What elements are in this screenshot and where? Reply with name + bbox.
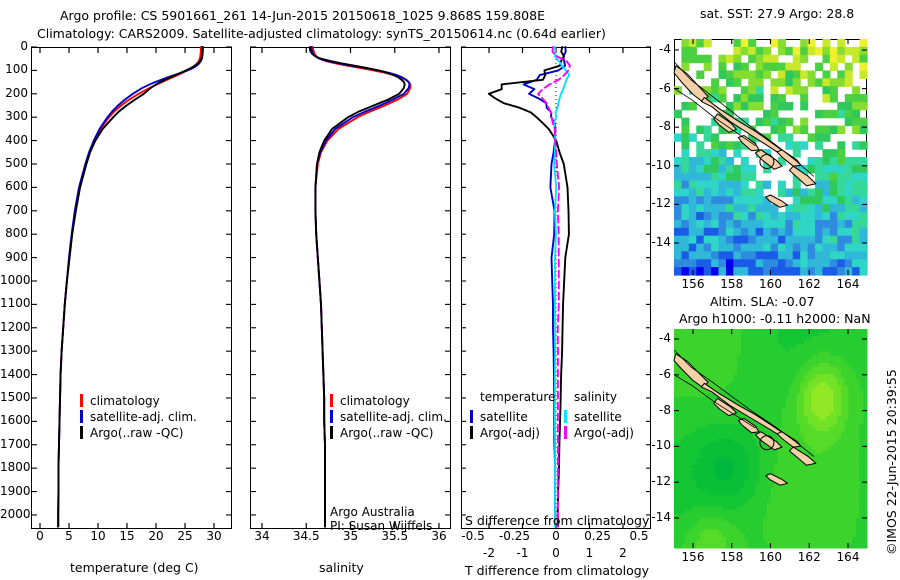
axis-tick-label: 30 <box>206 529 221 543</box>
map-tick-label: 156 <box>682 550 705 564</box>
temperature-axis-label: temperature (deg C) <box>70 560 199 575</box>
axis-tick-label: -0.25 <box>499 529 530 543</box>
sla-map-subtitle: Argo h1000: -0.11 h2000: NaN <box>679 311 871 326</box>
depth-tick-label: 1900 <box>0 484 28 498</box>
map-tick-label: -4 <box>645 331 671 345</box>
depth-tick-label: 1400 <box>0 367 28 381</box>
sst-map-title: sat. SST: 27.9 Argo: 28.8 <box>700 6 854 21</box>
axis-tick-label: 0.5 <box>629 529 648 543</box>
depth-tick-label: 1800 <box>0 460 28 474</box>
imos-credit: ©IMOS 22-Jun-2015 20:39:55 <box>884 369 899 555</box>
map-tick-label: -14 <box>645 235 671 249</box>
axis-tick-label: 2 <box>619 546 627 560</box>
axis-tick-label: 1 <box>586 546 594 560</box>
map-tick-label: 156 <box>682 277 705 291</box>
map-tick-label: 160 <box>759 550 782 564</box>
map-tick-label: 164 <box>837 550 860 564</box>
map-tick-label: 162 <box>798 277 821 291</box>
map-tick-label: 158 <box>720 277 743 291</box>
depth-tick-label: 700 <box>0 203 28 217</box>
depth-tick-label: 500 <box>0 156 28 170</box>
map-tick-label: -8 <box>645 119 671 133</box>
depth-tick-label: 1200 <box>0 320 28 334</box>
legend-item: Argo(-adj) <box>564 422 634 441</box>
salinity-plot <box>250 47 451 529</box>
axis-tick-label: -0.5 <box>461 529 484 543</box>
depth-tick-label: 0 <box>0 39 28 53</box>
depth-tick-label: 1500 <box>0 390 28 404</box>
legend-group-header: temperature <box>480 390 555 404</box>
legend-color-swatch <box>564 426 567 439</box>
map-tick-label: -12 <box>645 196 671 210</box>
legend-item: Argo(-adj) <box>470 422 540 441</box>
map-tick-label: 160 <box>759 277 782 291</box>
depth-tick-label: 1300 <box>0 343 28 357</box>
map-tick-label: 158 <box>720 550 743 564</box>
map-tick-label: -4 <box>645 42 671 56</box>
legend-group-header: salinity <box>574 390 617 404</box>
salinity-difference-axis-label: S difference from climatology <box>465 513 649 528</box>
legend-label: Argo(..raw -QC) <box>90 426 183 440</box>
axis-tick-label: 0 <box>552 529 560 543</box>
depth-tick-label: 200 <box>0 86 28 100</box>
page-title-line1: Argo profile: CS 5901661_261 14-Jun-2015… <box>60 8 545 23</box>
depth-tick-label: 1700 <box>0 437 28 451</box>
map-tick-label: -10 <box>645 438 671 452</box>
axis-tick-label: 0.25 <box>584 529 611 543</box>
map-tick-label: 162 <box>798 550 821 564</box>
legend-item: Argo(..raw -QC) <box>80 422 183 441</box>
depth-tick-label: 1600 <box>0 413 28 427</box>
axis-tick-label: 10 <box>90 529 105 543</box>
depth-tick-label: 100 <box>0 62 28 76</box>
legend-label: Argo(-adj) <box>574 426 634 440</box>
axis-tick-label: 25 <box>177 529 192 543</box>
depth-tick-label: 800 <box>0 226 28 240</box>
legend-label: Argo(-adj) <box>480 426 540 440</box>
legend-color-swatch <box>470 426 473 439</box>
attribution-line2: PI: Susan Wijffels <box>330 519 432 533</box>
temperature-difference-axis-label: T difference from climatology <box>465 563 649 578</box>
axis-tick-label: 0 <box>36 529 44 543</box>
legend-color-swatch <box>330 426 333 439</box>
axis-tick-label: 34 <box>254 529 269 543</box>
map-tick-label: -8 <box>645 403 671 417</box>
axis-tick-label: 36 <box>431 529 446 543</box>
sla-map-plot <box>674 329 867 548</box>
page-title-line2: Climatology: CARS2009. Satellite-adjuste… <box>37 26 606 41</box>
axis-tick-label: 15 <box>119 529 134 543</box>
depth-tick-label: 1100 <box>0 296 28 310</box>
depth-tick-label: 400 <box>0 133 28 147</box>
depth-tick-label: 600 <box>0 179 28 193</box>
difference-plot <box>461 47 651 529</box>
map-tick-label: -14 <box>645 510 671 524</box>
axis-tick-label: -1 <box>517 546 529 560</box>
axis-tick-label: 5 <box>65 529 73 543</box>
attribution-line1: Argo Australia <box>330 505 415 519</box>
axis-tick-label: 0 <box>552 546 560 560</box>
axis-tick-label: -2 <box>483 546 495 560</box>
axis-tick-label: 20 <box>148 529 163 543</box>
map-tick-label: 164 <box>837 277 860 291</box>
map-tick-label: -6 <box>645 367 671 381</box>
map-tick-label: -10 <box>645 158 671 172</box>
map-tick-label: -6 <box>645 81 671 95</box>
temperature-plot <box>31 47 232 529</box>
legend-label: Argo(..raw -QC) <box>340 426 433 440</box>
depth-tick-label: 300 <box>0 109 28 123</box>
map-tick-label: -12 <box>645 474 671 488</box>
depth-tick-label: 900 <box>0 250 28 264</box>
legend-color-swatch <box>80 426 83 439</box>
depth-tick-label: 2000 <box>0 507 28 521</box>
depth-tick-label: 1000 <box>0 273 28 287</box>
salinity-axis-label: salinity <box>319 560 364 575</box>
axis-tick-label: 34.5 <box>293 529 320 543</box>
sst-map-plot <box>674 39 867 275</box>
legend-item: Argo(..raw -QC) <box>330 422 433 441</box>
sla-map-title: Altim. SLA: -0.07 <box>710 294 815 309</box>
